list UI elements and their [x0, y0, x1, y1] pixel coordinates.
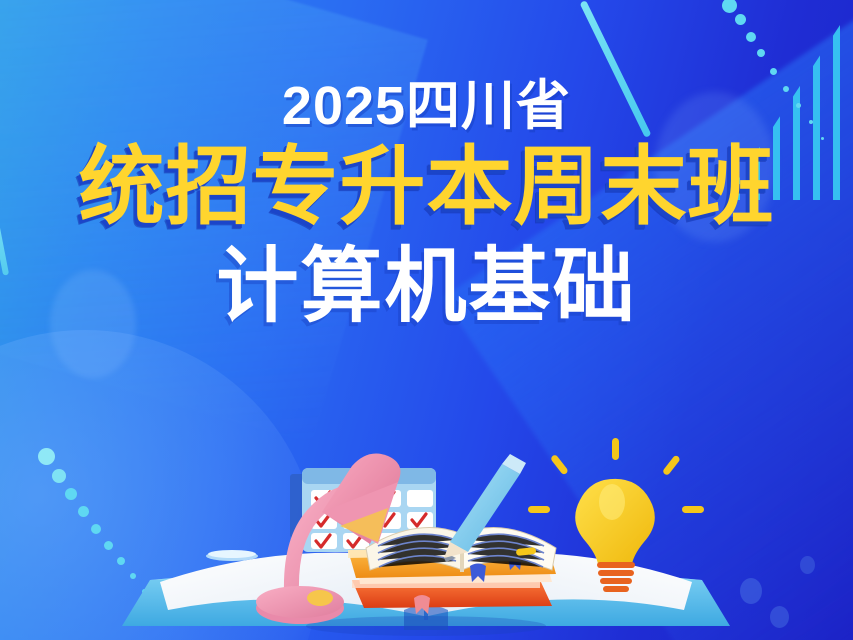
lamp-switch-button	[307, 590, 333, 606]
banner-main-title: 统招专升本周末班	[0, 139, 853, 235]
dot-accent	[722, 0, 737, 13]
headline-block: 2025四川省 统招专升本周末班 计算机基础	[0, 78, 853, 333]
desk-eraser	[206, 550, 258, 561]
banner-subject-title: 计算机基础	[0, 241, 853, 333]
dot-accent	[757, 49, 765, 57]
study-desk-illustration	[0, 430, 853, 640]
dot-accent	[746, 32, 756, 42]
banner-year-line: 2025四川省	[0, 78, 853, 135]
promo-banner: 2025四川省 统招专升本周末班 计算机基础	[0, 0, 853, 640]
dot-accent	[735, 14, 746, 25]
dot-accent	[770, 68, 777, 75]
